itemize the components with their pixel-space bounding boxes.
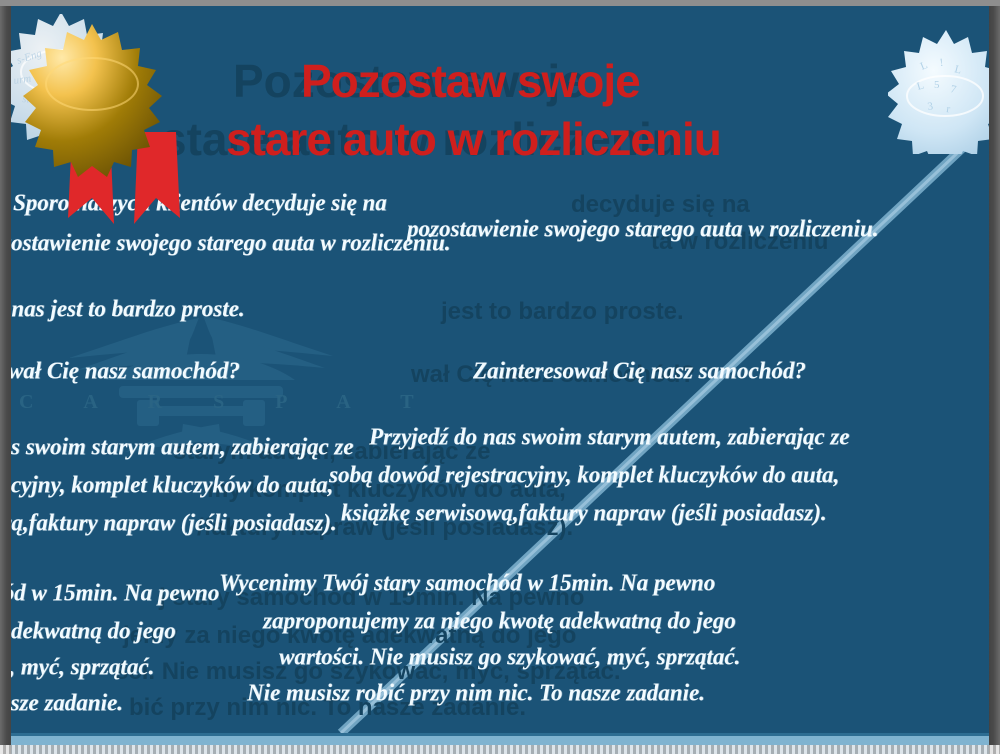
body-p5-line3-left: wartości. Nie musisz go szykować, myć, s… bbox=[11, 653, 154, 680]
pale-blue-seal-icon: L ! L L 5 7 3 r bbox=[888, 24, 998, 154]
body-p1-line2-right: pozostawienie swojego starego auta w roz… bbox=[407, 215, 879, 242]
promo-slide: C A R S P A T Pozostaw swoje stare auto … bbox=[0, 0, 1000, 754]
body-p2-line1-left: U nas jest to bardzo proste. bbox=[11, 295, 245, 322]
top-border-strip bbox=[0, 0, 1000, 6]
body-p4-line2-right: sobą dowód rejestracyjny, komplet kluczy… bbox=[329, 461, 839, 488]
bottom-accent-line bbox=[11, 736, 989, 745]
body-p5-line4-right: Nie musisz robić przy nim nic. To nasze … bbox=[247, 679, 705, 706]
body-p5-line1-right: Wycenimy Twój stary samochód w 15min. Na… bbox=[219, 569, 715, 596]
page-title-line2: stare auto w rozliczeniu bbox=[226, 112, 721, 166]
left-edge-strip bbox=[0, 0, 11, 754]
page-title-line1: Pozostaw swoje bbox=[301, 54, 640, 108]
right-edge-strip bbox=[989, 0, 1000, 754]
body-p5-line2-left: zaproponujemy za niego kwotę adekwatną d… bbox=[11, 617, 176, 644]
body-p4-line2-left: sobą dowód rejestracyjny, komplet kluczy… bbox=[11, 471, 333, 498]
body-p3-line1-right: Zainteresował Cię nasz samochód? bbox=[473, 357, 806, 384]
body-p4-line3-left: książkę serwisową,faktury napraw (jeśli … bbox=[11, 509, 337, 536]
svg-text:5: 5 bbox=[934, 79, 940, 91]
body-p5-line3-right: wartości. Nie musisz go szykować, myć, s… bbox=[279, 643, 740, 670]
bottom-dotted-border bbox=[0, 745, 1000, 754]
body-p5-line1-left: Wycenimy Twój stary samochód w 15min. Na… bbox=[11, 579, 219, 606]
body-p4-line1-left: Przyjedź do nas swoim starym autem, zabi… bbox=[11, 433, 353, 460]
body-p3-line1-left: Zainteresował Cię nasz samochód? bbox=[11, 357, 240, 384]
body-p4-line3-right: książkę serwisową,faktury napraw (jeśli … bbox=[341, 499, 827, 526]
gold-award-seal-icon: s-Eng urm si bbox=[4, 14, 174, 184]
body-p5-line4-left: Nie musisz robić przy nim nic. To nasze … bbox=[11, 689, 123, 716]
ghost-line-3: jest to bardzo proste. bbox=[441, 298, 684, 326]
body-p5-line2-right: zaproponujemy za niego kwotę adekwatną d… bbox=[263, 607, 736, 634]
body-p4-line1-right: Przyjedź do nas swoim starym autem, zabi… bbox=[369, 423, 849, 450]
svg-text:urm: urm bbox=[13, 73, 32, 87]
